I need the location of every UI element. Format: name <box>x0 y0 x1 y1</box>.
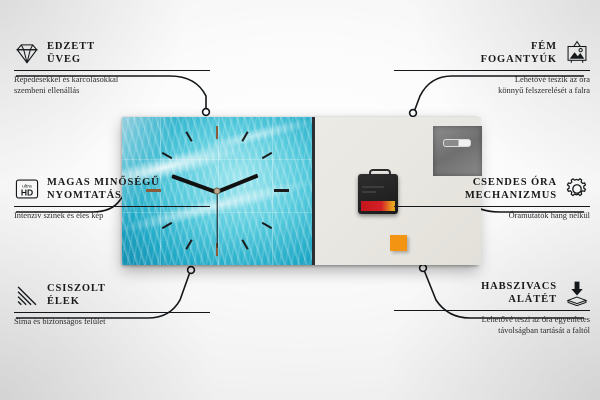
callout-subtitle: Sima és biztonságos felület <box>14 316 210 327</box>
callout-title: MAGAS MINŐSÉGŰ <box>47 176 160 189</box>
svg-text:HD: HD <box>21 188 33 198</box>
callout-subtitle: Repedésekkel és karcolásokkal <box>14 74 210 85</box>
callout-title: HABSZIVACS <box>481 280 557 293</box>
divider <box>394 206 590 207</box>
callout-title-2: ÉLEK <box>47 295 106 308</box>
clock-mechanism <box>358 174 398 214</box>
foam-pad-icon <box>564 280 590 306</box>
callout-subtitle: Óramutatók hang nélkül <box>394 210 590 221</box>
callout-title-2: MECHANIZMUS <box>465 189 557 202</box>
divider <box>14 70 210 71</box>
callout-title: FÉM <box>481 40 557 53</box>
foam-pad <box>390 235 407 251</box>
callout-habszivacs-alatet: HABSZIVACS ALÁTÉT Lehetővé teszi az óra … <box>394 280 590 336</box>
callout-title-2: ÜVEG <box>47 53 95 66</box>
callout-fem-fogantyuk: FÉM FOGANTYÚK Lehetővé teszik az óra kön… <box>394 40 590 96</box>
divider <box>14 206 210 207</box>
clock-center-pin <box>215 189 220 194</box>
callout-subtitle: Lehetővé teszik az óra <box>394 74 590 85</box>
callout-title: CSENDES ÓRA <box>465 176 557 189</box>
ultra-hd-icon: ultra HD <box>14 176 40 202</box>
divider <box>14 312 210 313</box>
callout-magas-minosegu-nyomtatas: ultra HD MAGAS MINŐSÉGŰ NYOMTATÁS Intenz… <box>14 176 210 221</box>
second-hand <box>216 192 217 248</box>
callout-title-2: FOGANTYÚK <box>481 53 557 66</box>
diamond-icon <box>14 40 40 66</box>
callout-title: EDZETT <box>47 40 95 53</box>
divider <box>394 310 590 311</box>
polished-edge-icon <box>14 282 40 308</box>
callout-subtitle: Intenzív színek és éles kép <box>14 210 210 221</box>
callout-edzett-uveg: EDZETT ÜVEG Repedésekkel és karcolásokka… <box>14 40 210 96</box>
divider <box>394 70 590 71</box>
picture-frame-icon <box>564 40 590 66</box>
callout-csendes-ora-mechanizmus: CSENDES ÓRA MECHANIZMUS Óramutatók hang … <box>394 176 590 221</box>
callout-subtitle-2: könnyű felszerelését a falra <box>394 85 590 96</box>
callout-title: CSISZOLT <box>47 282 106 295</box>
callout-subtitle-2: távolságban tartását a faltól <box>394 325 590 336</box>
hour-hand <box>216 174 258 194</box>
metal-hanger <box>433 126 482 176</box>
infographic-stage: EDZETT ÜVEG Repedésekkel és karcolásokka… <box>0 0 600 400</box>
callout-csiszolt-elek: CSISZOLT ÉLEK Sima és biztonságos felüle… <box>14 282 210 327</box>
gear-icon <box>564 176 590 202</box>
callout-title-2: ALÁTÉT <box>481 293 557 306</box>
callout-subtitle-2: szembeni ellenállás <box>14 85 210 96</box>
callout-title-2: NYOMTATÁS <box>47 189 160 202</box>
callout-subtitle: Lehetővé teszi az óra egyenletes <box>394 314 590 325</box>
